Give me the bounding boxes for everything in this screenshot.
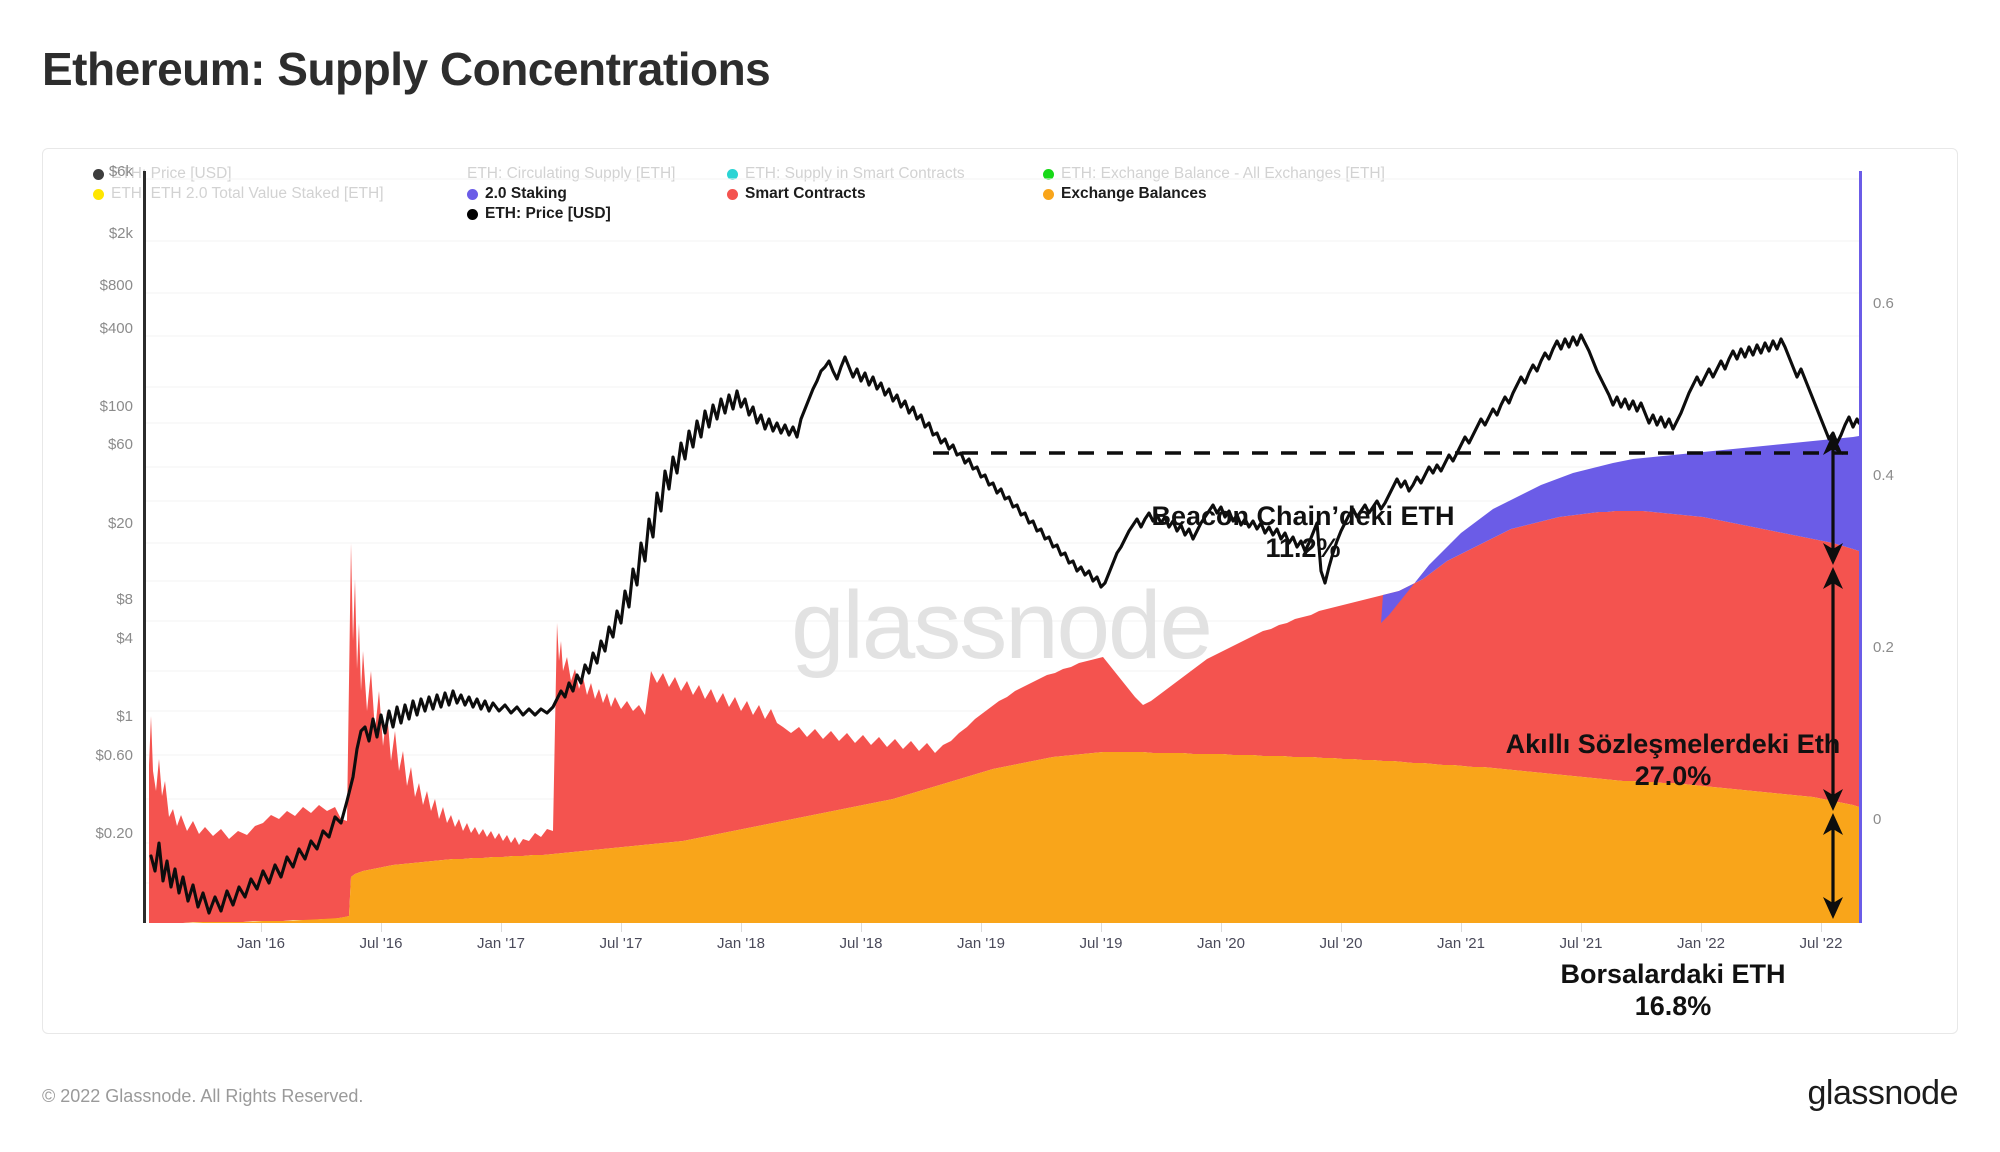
chart-page: Ethereum: Supply Concentrations ETH: Pri… [0, 0, 2000, 1152]
y-tick-label: $4 [43, 630, 133, 647]
x-tick-label: Jul '21 [1560, 935, 1603, 952]
x-tick-label: Jan '20 [1197, 935, 1245, 952]
annotation-value: 11.2% [1083, 533, 1523, 565]
x-tick-label: Jan '16 [237, 935, 285, 952]
y-tick-label: $0.60 [43, 747, 133, 764]
chart-svg [143, 171, 1859, 923]
y-tick-label: $0.20 [43, 825, 133, 842]
page-title: Ethereum: Supply Concentrations [42, 42, 770, 96]
y-tick-label: $400 [43, 320, 133, 337]
annotation-beacon-chain: Beacon Chain’deki ETH 11.2% [1083, 501, 1523, 565]
annotation-title: Borsalardaki ETH [1473, 959, 1873, 991]
y-tick-label: $100 [43, 398, 133, 415]
glassnode-logo: glassnode [1807, 1074, 1958, 1113]
y-tick-label: $8 [43, 591, 133, 608]
x-tick-label: Jul '19 [1080, 935, 1123, 952]
annotation-smart-contracts: Akıllı Sözleşmelerdeki Eth 27.0% [1443, 729, 1903, 793]
y-tick-label-right: 0.2 [1873, 639, 1894, 656]
y-tick-label-right: 0.6 [1873, 295, 1894, 312]
annotation-title: Beacon Chain’deki ETH [1083, 501, 1523, 533]
glassnode-watermark: glassnode [791, 571, 1211, 681]
x-tick-label: Jan '19 [957, 935, 1005, 952]
y-tick-label: $2k [43, 225, 133, 242]
chart-card: ETH: Price [USD] ETH: Circulating Supply… [42, 148, 1958, 1034]
y-tick-label-right: 0.4 [1873, 467, 1894, 484]
annotation-exchanges: Borsalardaki ETH 16.8% [1473, 959, 1873, 1023]
x-tick-label: Jul '22 [1800, 935, 1843, 952]
x-tick-label: Jan '22 [1677, 935, 1725, 952]
annotation-value: 27.0% [1443, 761, 1903, 793]
x-tick-label: Jan '17 [477, 935, 525, 952]
x-tick-label: Jul '16 [360, 935, 403, 952]
x-tick-label: Jul '18 [840, 935, 883, 952]
y-tick-label: $800 [43, 277, 133, 294]
y-axis-left-spine [143, 171, 146, 923]
plot-area: glassnode [143, 171, 1859, 923]
x-tick-label: Jan '18 [717, 935, 765, 952]
y-tick-label-right: 0 [1873, 811, 1881, 828]
y-tick-label: $6k [43, 163, 133, 180]
y-tick-label: $20 [43, 515, 133, 532]
annotation-value: 16.8% [1473, 991, 1873, 1023]
legend-dot-icon [93, 189, 104, 200]
annotation-title: Akıllı Sözleşmelerdeki Eth [1443, 729, 1903, 761]
y-tick-label: $60 [43, 436, 133, 453]
y-tick-label: $1 [43, 708, 133, 725]
x-tick-label: Jul '17 [600, 935, 643, 952]
copyright-text: © 2022 Glassnode. All Rights Reserved. [42, 1086, 363, 1107]
plot-inner: glassnode [143, 171, 1859, 923]
x-tick-label: Jul '20 [1320, 935, 1363, 952]
x-tick-label: Jan '21 [1437, 935, 1485, 952]
y-axis-right-spine [1859, 171, 1862, 923]
